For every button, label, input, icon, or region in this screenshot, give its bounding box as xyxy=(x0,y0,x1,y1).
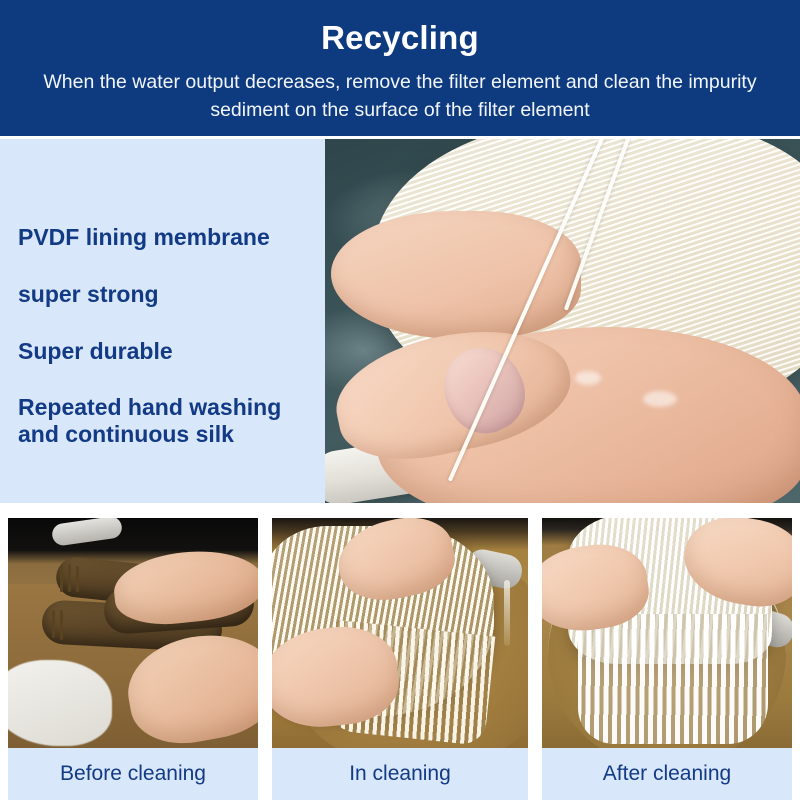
photo-fiber-strand xyxy=(52,610,55,638)
photo-index-finger xyxy=(331,211,581,339)
photo-foam xyxy=(8,660,112,746)
header-banner: Recycling When the water output decrease… xyxy=(0,0,800,136)
infographic-page: Recycling When the water output decrease… xyxy=(0,0,800,800)
step-photo-after xyxy=(542,518,792,748)
photo-fiber-strand xyxy=(76,566,79,592)
step-photo-before xyxy=(8,518,258,748)
main-product-photo xyxy=(325,139,800,503)
step-photo-in-cleaning xyxy=(272,518,528,748)
photo-water-sheen xyxy=(643,391,677,407)
step-caption-after: After cleaning xyxy=(542,748,792,800)
feature-item-1: PVDF lining membrane xyxy=(18,223,318,252)
step-card-in-cleaning: In cleaning xyxy=(272,518,528,800)
feature-item-4: Repeated hand washing and continuous sil… xyxy=(18,394,318,448)
header-subtitle: When the water output decreases, remove … xyxy=(34,68,766,124)
step-caption-before: Before cleaning xyxy=(8,748,258,800)
step-card-before: Before cleaning xyxy=(8,518,258,800)
photo-water-sheen xyxy=(575,371,601,385)
step-card-after: After cleaning xyxy=(542,518,792,800)
feature-item-2: super strong xyxy=(18,280,318,309)
steps-row: Before cleaning In cleaning xyxy=(0,518,800,800)
photo-fiber-strand xyxy=(60,566,63,592)
photo-water-stream xyxy=(504,580,510,646)
photo-fiber-strand xyxy=(60,610,63,640)
page-title: Recycling xyxy=(34,18,766,58)
feature-item-3: Super durable xyxy=(18,337,318,366)
photo-fiber-strand xyxy=(68,564,71,592)
photo-membrane-fringe xyxy=(578,614,768,744)
step-caption-in-cleaning: In cleaning xyxy=(272,748,528,800)
top-content-row: PVDF lining membrane super strong Super … xyxy=(0,139,800,503)
features-panel: PVDF lining membrane super strong Super … xyxy=(0,139,325,503)
